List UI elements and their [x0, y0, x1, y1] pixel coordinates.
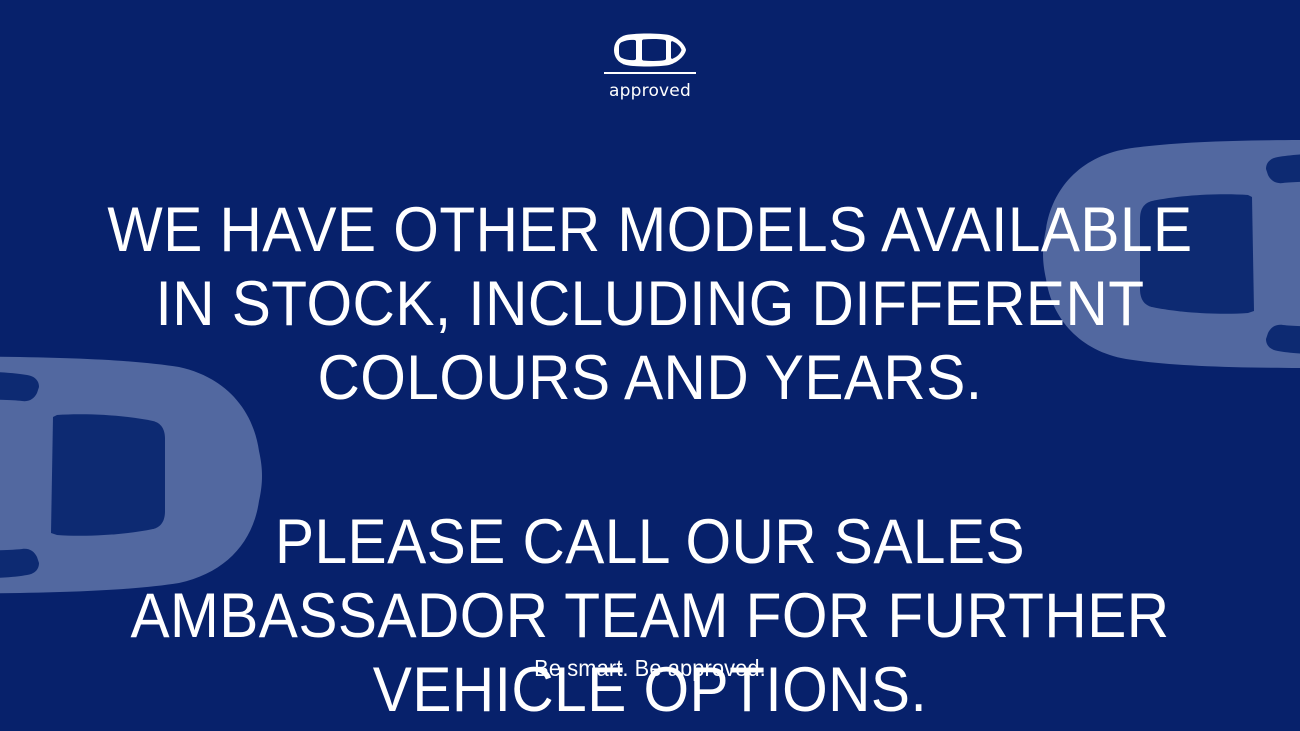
tagline: Be smart. Be approved.: [33, 655, 1268, 682]
logo-divider: [604, 72, 696, 74]
headline-primary: WE HAVE OTHER MODELS AVAILABLE IN STOCK,…: [46, 193, 1255, 415]
promotional-slide: approved WE HAVE OTHER MODELS AVAILABLE …: [0, 0, 1300, 731]
car-top-view-icon: [613, 33, 687, 67]
logo-wordmark: approved: [609, 81, 691, 101]
headline-area: WE HAVE OTHER MODELS AVAILABLE IN STOCK,…: [0, 193, 1300, 727]
headline-secondary: PLEASE CALL OUR SALES AMBASSADOR TEAM FO…: [46, 505, 1255, 727]
brand-logo: approved: [0, 33, 1300, 101]
